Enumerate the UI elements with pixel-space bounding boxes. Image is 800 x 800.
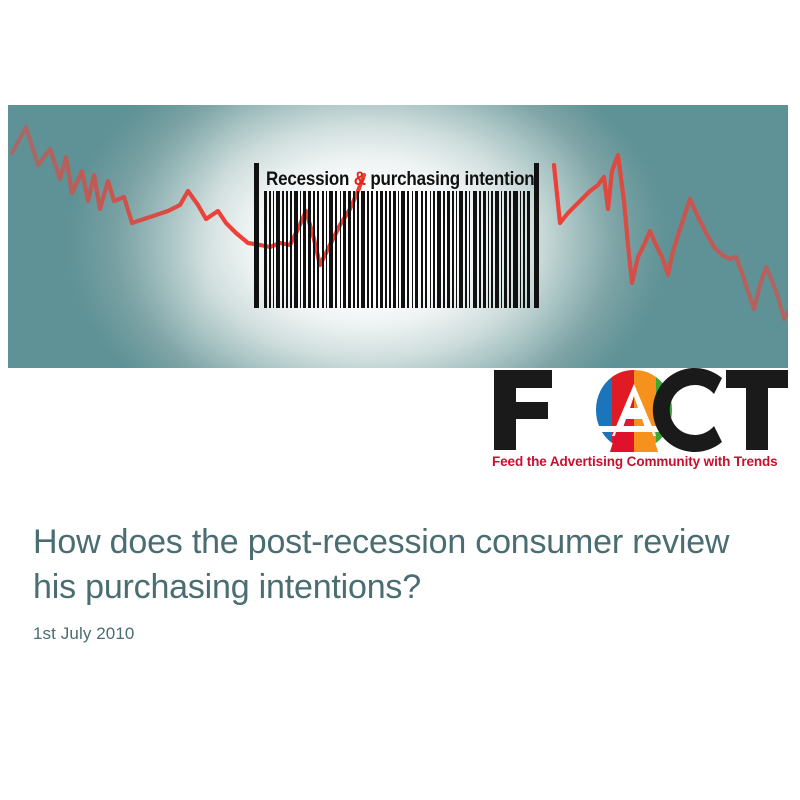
barcode-bar — [459, 191, 462, 308]
barcode-caption: Recession & purchasing intention — [266, 165, 536, 194]
barcode-bar — [313, 191, 314, 308]
slide-date: 1st July 2010 — [33, 624, 763, 644]
barcode-bar — [469, 191, 470, 308]
barcode-bar — [335, 191, 337, 308]
barcode-bar — [276, 191, 279, 308]
barcode-bar — [437, 191, 441, 308]
barcode-bar — [340, 191, 341, 308]
barcode-caption-suffix: purchasing intention — [366, 168, 535, 189]
barcode-bar — [415, 191, 418, 308]
barcode-bar — [290, 191, 292, 308]
logo-letter-t — [726, 370, 788, 450]
logo-letter-f — [494, 370, 552, 450]
barcode-bar — [456, 191, 457, 308]
barcode-caption-ampersand: & — [354, 168, 366, 189]
barcode-bar — [264, 191, 267, 308]
barcode-bar — [367, 191, 368, 308]
barcode-bar — [361, 191, 365, 308]
barcode-bar — [433, 191, 435, 308]
barcode-caption-prefix: Recession — [266, 168, 354, 189]
barcode-bar — [473, 191, 477, 308]
barcode-bar — [488, 191, 489, 308]
barcode-bar — [495, 191, 498, 308]
barcode-bar — [504, 191, 507, 308]
barcode-bar — [273, 191, 274, 308]
barcode-bar — [421, 191, 423, 308]
barcode-bar — [317, 191, 320, 308]
logo-letter-c — [653, 368, 722, 452]
barcode-bar — [465, 191, 467, 308]
barcode-bar — [357, 191, 359, 308]
barcode-bar — [282, 191, 284, 308]
barcode-bar — [308, 191, 311, 308]
fact-tagline: Feed the Advertising Community with Tren… — [492, 454, 792, 469]
barcode-bar — [509, 191, 511, 308]
barcode-bar — [329, 191, 333, 308]
barcode-bar — [398, 191, 399, 308]
barcode-bar — [401, 191, 405, 308]
barcode-bar — [353, 191, 354, 308]
barcode-bar — [286, 191, 287, 308]
barcode-bar — [483, 191, 486, 308]
barcode-bar — [376, 191, 378, 308]
barcode-bar — [520, 191, 521, 308]
logo-wedge-blue — [596, 377, 612, 443]
barcode-bar — [447, 191, 450, 308]
barcode-bar — [385, 191, 386, 308]
barcode-bar — [380, 191, 383, 308]
barcode-bar — [300, 191, 301, 308]
fact-logo: Feed the Advertising Community with Tren… — [490, 366, 790, 478]
barcode-bar — [443, 191, 444, 308]
barcode-bar — [523, 191, 525, 308]
title-block: How does the post-recession consumer rev… — [33, 520, 763, 644]
barcode-bar — [326, 191, 327, 308]
page-title: How does the post-recession consumer rev… — [33, 520, 763, 610]
barcode-bar — [412, 191, 413, 308]
recession-banner-image: Recession & purchasing intention — [8, 105, 788, 368]
barcode-bar — [425, 191, 428, 308]
barcode-bar — [430, 191, 431, 308]
barcode-bar — [348, 191, 351, 308]
barcode-bar — [389, 191, 391, 308]
barcode-bar — [479, 191, 481, 308]
title-slide: Recession & purchasing intention — [0, 0, 800, 800]
barcode-bar — [407, 191, 409, 308]
barcode-bar — [527, 191, 530, 308]
barcode-bar — [269, 191, 271, 308]
fact-wordmark — [490, 366, 790, 452]
barcode-bar — [343, 191, 346, 308]
barcode-bar — [371, 191, 374, 308]
barcode-bar — [393, 191, 396, 308]
barcode-bar — [294, 191, 298, 308]
barcode-bar — [513, 191, 517, 308]
barcode-bar — [303, 191, 305, 308]
barcode-bars — [264, 191, 530, 308]
trend-line-right — [554, 155, 788, 319]
barcode-graphic: Recession & purchasing intention — [246, 163, 554, 308]
barcode-guard-left — [254, 163, 259, 308]
barcode-bar — [322, 191, 324, 308]
barcode-bar — [501, 191, 502, 308]
barcode-bar — [491, 191, 493, 308]
barcode-bar — [452, 191, 454, 308]
